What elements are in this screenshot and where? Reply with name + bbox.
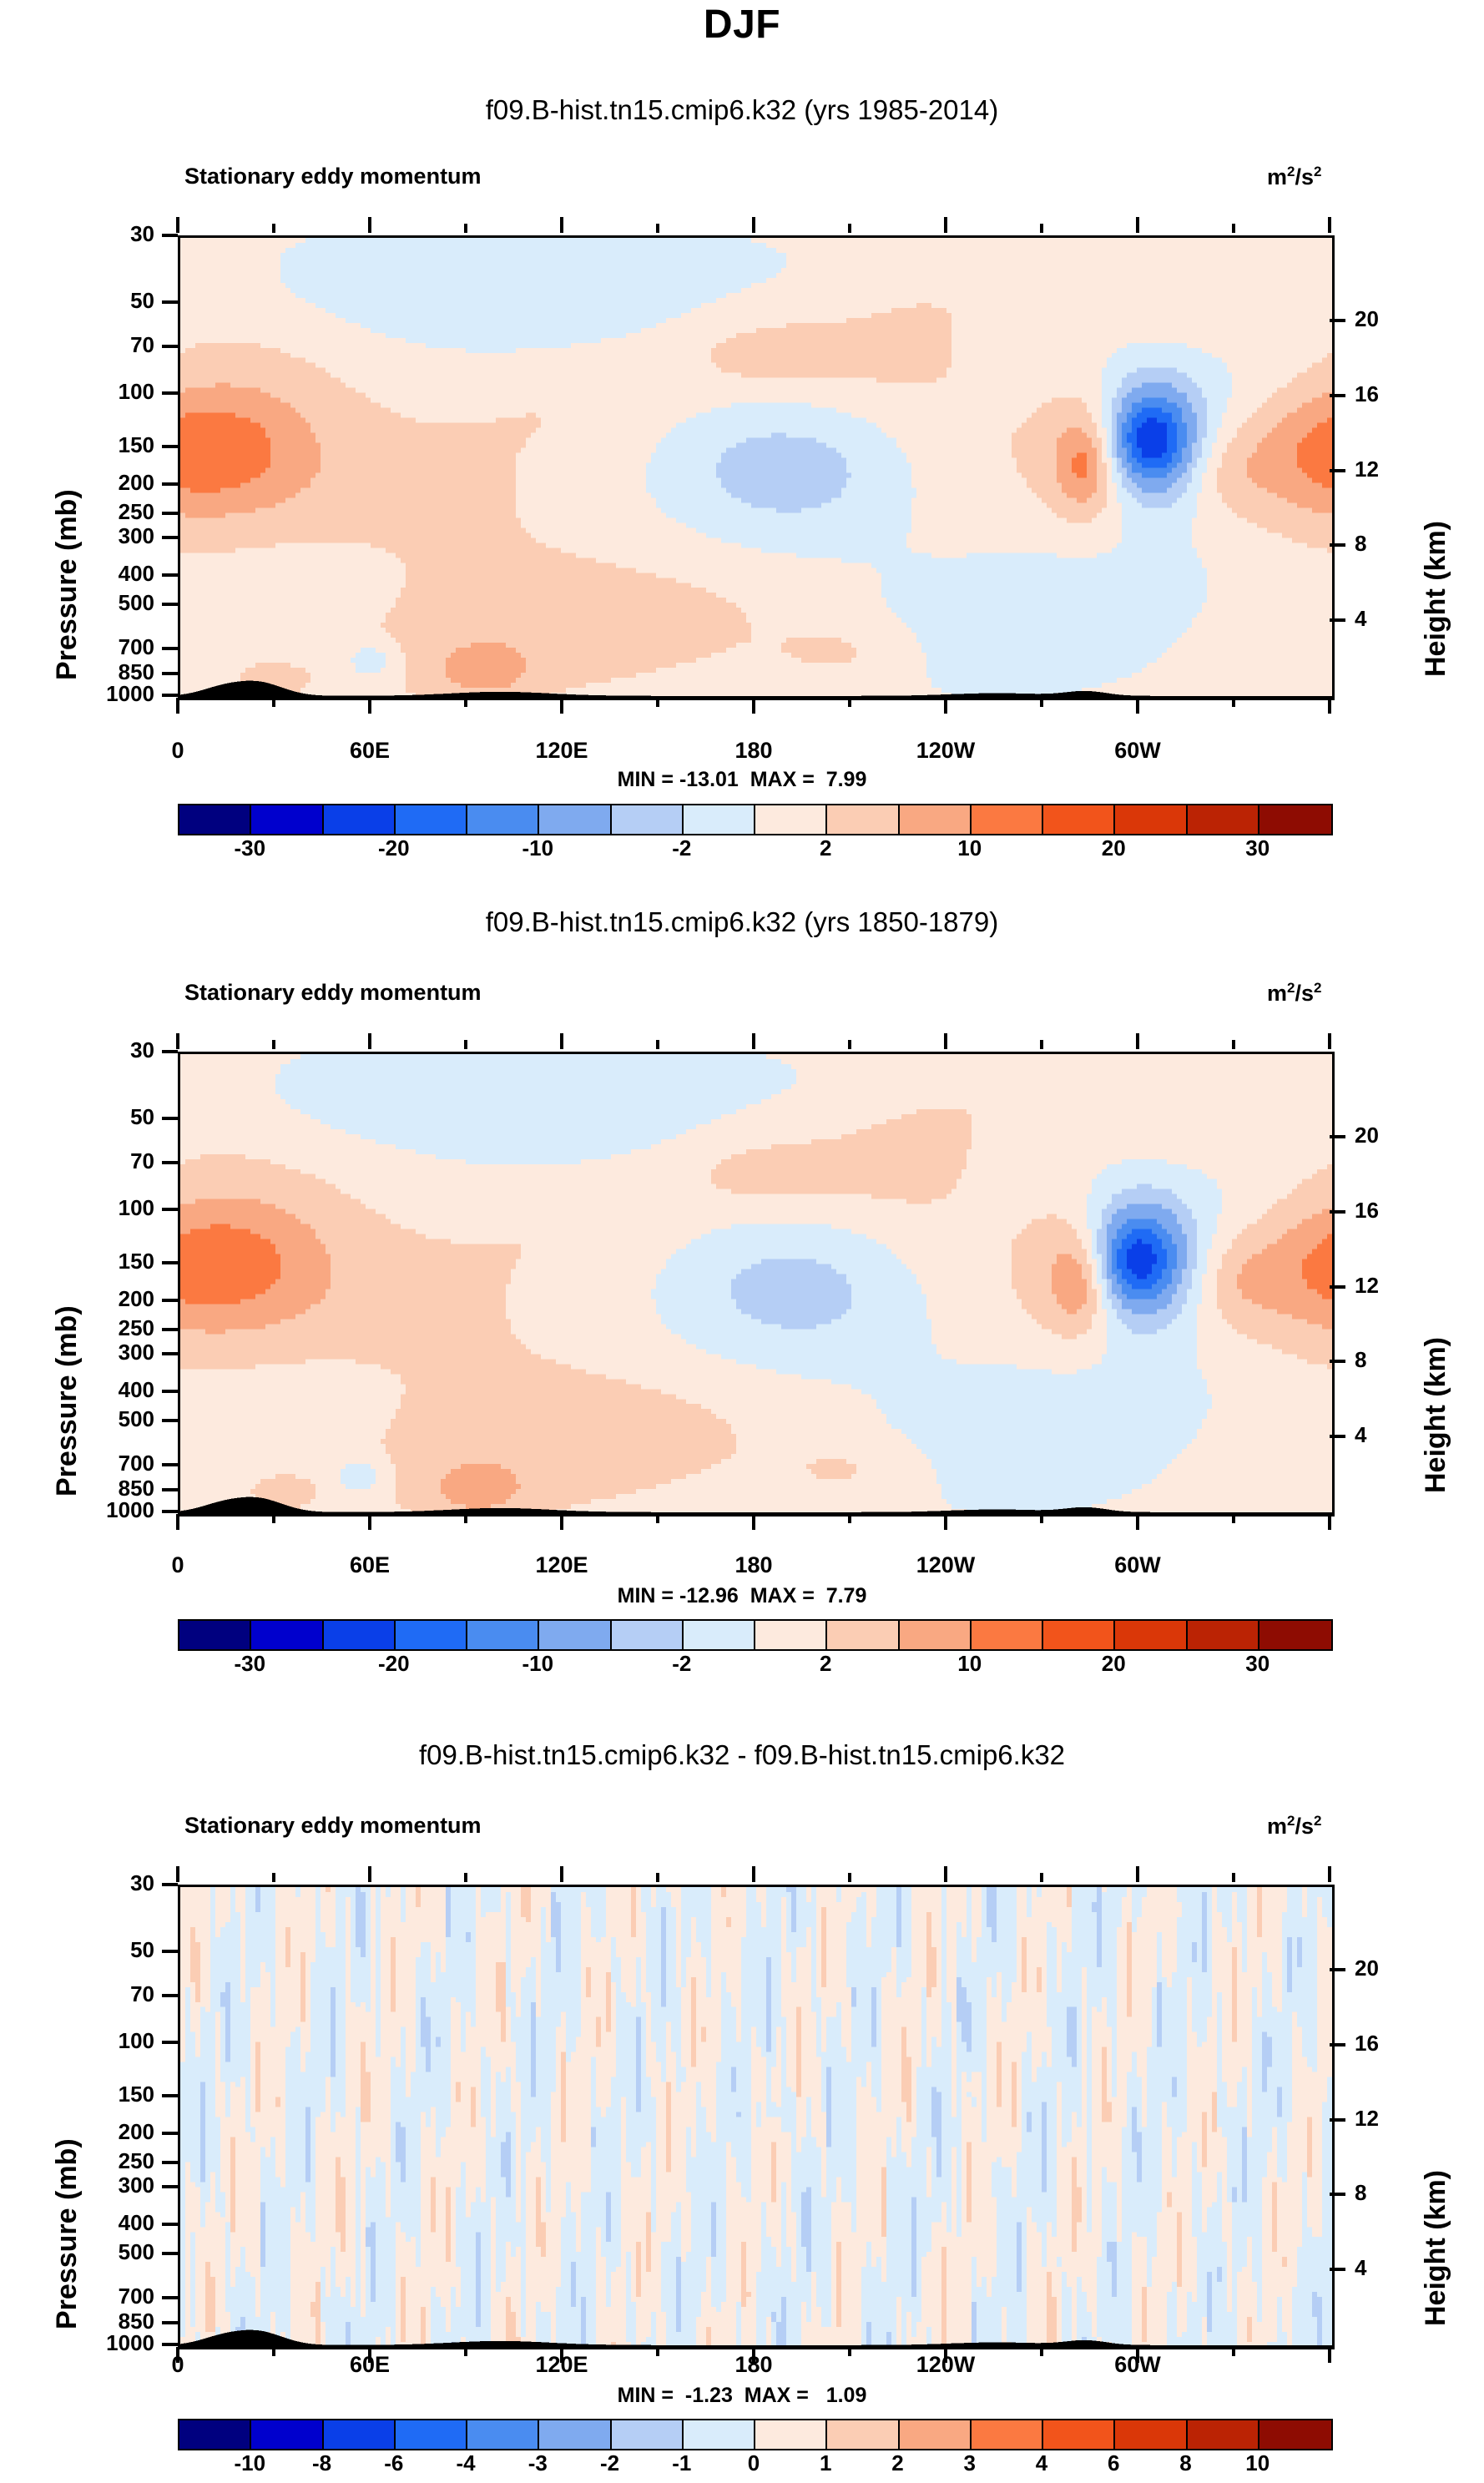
y-tick-label: 1000 xyxy=(53,681,154,707)
colorbar-tick-label: -20 xyxy=(344,835,444,861)
x-tick-top-minor xyxy=(848,224,851,233)
y-tick-major xyxy=(162,2161,178,2164)
x-tick-minor xyxy=(272,698,275,707)
y-tick-major xyxy=(162,1117,178,1120)
x-tick-minor xyxy=(656,698,659,707)
colorbar-cell[interactable] xyxy=(755,1621,827,1649)
x-tick-top-minor xyxy=(464,224,467,233)
x-tick-label: 60E xyxy=(295,1552,445,1578)
y-tick-major xyxy=(162,1510,178,1513)
y-tick-major xyxy=(162,1328,178,1331)
colorbar-cell[interactable] xyxy=(251,805,323,834)
colorbar-cell[interactable] xyxy=(179,805,251,834)
colorbar-cell[interactable] xyxy=(1043,805,1115,834)
x-tick-label: 60W xyxy=(1063,1552,1213,1578)
x-tick-label: 120W xyxy=(871,1552,1021,1578)
colorbar-cell[interactable] xyxy=(1115,2420,1187,2449)
x-tick-minor xyxy=(1040,2347,1043,2356)
x-tick-top-major xyxy=(560,1033,563,1049)
x-tick-label: 120W xyxy=(871,2352,1021,2378)
min-max-label: MIN = -12.96 MAX = 7.79 xyxy=(0,1584,1484,1608)
y2-tick-label: 12 xyxy=(1355,1273,1421,1299)
x-tick-top-minor xyxy=(656,224,659,233)
y-tick-major xyxy=(162,345,178,348)
x-tick-top-major xyxy=(368,1033,371,1049)
colorbar-cell[interactable] xyxy=(467,2420,539,2449)
x-tick-label: 120W xyxy=(871,738,1021,764)
y2-tick-label: 16 xyxy=(1355,381,1421,407)
x-tick-top-major xyxy=(752,1033,755,1049)
colorbar-cell[interactable] xyxy=(251,2420,323,2449)
y-tick-major xyxy=(162,445,178,448)
x-tick-minor xyxy=(1040,698,1043,707)
x-tick-top-minor xyxy=(464,1873,467,1882)
units-text: m2/s2 xyxy=(1267,1814,1321,1839)
colorbar-tick-label: 20 xyxy=(1063,1651,1163,1677)
x-tick-minor xyxy=(464,2347,467,2356)
y-axis-title: Pressure (mb) xyxy=(51,2138,83,2329)
y-tick-label: 70 xyxy=(53,1981,154,2007)
y-tick-major xyxy=(162,2321,178,2324)
units-text: m2/s2 xyxy=(1267,164,1321,189)
y-tick-label: 30 xyxy=(53,221,154,247)
colorbar-cell[interactable] xyxy=(900,2420,972,2449)
x-tick-minor xyxy=(464,698,467,707)
y2-tick-label: 4 xyxy=(1355,2255,1421,2281)
y-tick-major xyxy=(162,2223,178,2226)
y-tick-label: 150 xyxy=(53,432,154,458)
x-tick-top-minor xyxy=(1232,1873,1235,1882)
y-tick-major xyxy=(162,672,178,675)
y2-tick-major xyxy=(1330,1210,1345,1214)
colorbar-tick-label: -30 xyxy=(199,835,300,861)
colorbar-cell[interactable] xyxy=(972,1621,1043,1649)
contour-field xyxy=(180,1054,1332,1514)
x-tick-top-minor xyxy=(464,1040,467,1049)
y2-axis-title: Height (km) xyxy=(1420,2170,1452,2326)
y2-tick-label: 4 xyxy=(1355,1422,1421,1448)
x-tick-major xyxy=(176,698,179,714)
colorbar-cell[interactable] xyxy=(324,1621,396,1649)
x-tick-top-minor xyxy=(272,1040,275,1049)
x-tick-major xyxy=(1328,698,1331,714)
y-tick-major xyxy=(162,2132,178,2135)
x-tick-top-major xyxy=(560,217,563,233)
variable-label: Stationary eddy momentum xyxy=(184,164,482,189)
min-max-label: MIN = -13.01 MAX = 7.99 xyxy=(0,768,1484,792)
colorbar-cell[interactable] xyxy=(972,2420,1043,2449)
x-tick-minor xyxy=(1232,2347,1235,2356)
colorbar-cell[interactable] xyxy=(539,1621,611,1649)
colorbar-cell[interactable] xyxy=(755,805,827,834)
y-tick-major xyxy=(162,2094,178,2097)
x-tick-label: 180 xyxy=(679,1552,829,1578)
y-tick-major xyxy=(162,1261,178,1264)
units-text: m2/s2 xyxy=(1267,981,1321,1006)
x-tick-minor xyxy=(848,2347,851,2356)
x-tick-major xyxy=(944,1514,947,1530)
y2-tick-label: 16 xyxy=(1355,1198,1421,1224)
x-tick-minor xyxy=(1232,698,1235,707)
y-axis-title: Pressure (mb) xyxy=(51,1305,83,1496)
y2-tick-major xyxy=(1330,1435,1345,1438)
colorbar-cell[interactable] xyxy=(612,2420,684,2449)
colorbar-cell[interactable] xyxy=(1259,1621,1331,1649)
y2-tick-label: 8 xyxy=(1355,1347,1421,1373)
units-label: m2/s2 xyxy=(1267,164,1321,190)
x-tick-top-major xyxy=(176,1866,179,1882)
y2-tick-major xyxy=(1330,1360,1345,1363)
colorbar-cell[interactable] xyxy=(1115,805,1187,834)
y2-tick-major xyxy=(1330,1968,1345,1971)
x-tick-top-minor xyxy=(848,1873,851,1882)
colorbar-cell[interactable] xyxy=(539,805,611,834)
panel-title: f09.B-hist.tn15.cmip6.k32 - f09.B-hist.t… xyxy=(0,1739,1484,1771)
y-tick-major xyxy=(162,1950,178,1953)
figure-main-title: DJF xyxy=(0,2,1484,48)
y2-axis-title: Height (km) xyxy=(1420,521,1452,677)
colorbar-cell[interactable] xyxy=(1188,2420,1259,2449)
x-tick-major xyxy=(1136,698,1139,714)
x-tick-top-major xyxy=(1136,1033,1139,1049)
y-tick-major xyxy=(162,391,178,395)
y-tick-label: 50 xyxy=(53,1104,154,1130)
x-tick-top-major xyxy=(1136,217,1139,233)
colorbar-cell[interactable] xyxy=(1259,2420,1331,2449)
y-tick-major xyxy=(162,1419,178,1422)
colorbar-cell[interactable] xyxy=(1188,1621,1259,1649)
y-tick-major xyxy=(162,1050,178,1053)
colorbar-tick-label: -2 xyxy=(632,1651,732,1677)
colorbar-cell[interactable] xyxy=(684,2420,755,2449)
y-tick-major xyxy=(162,603,178,606)
x-tick-top-major xyxy=(176,1033,179,1049)
y-tick-major xyxy=(162,300,178,304)
x-tick-top-minor xyxy=(1040,1040,1043,1049)
x-tick-major xyxy=(560,698,563,714)
x-tick-minor xyxy=(656,1514,659,1523)
y-tick-major xyxy=(162,2343,178,2346)
plot-area-2 xyxy=(178,1052,1335,1517)
y-tick-major xyxy=(162,1299,178,1302)
x-tick-label: 0 xyxy=(103,2352,253,2378)
y-tick-label: 100 xyxy=(53,379,154,405)
colorbar-cell[interactable] xyxy=(396,2420,467,2449)
y-tick-major xyxy=(162,1390,178,1393)
y-tick-label: 150 xyxy=(53,1249,154,1274)
y-tick-major xyxy=(162,1488,178,1491)
y-tick-label: 100 xyxy=(53,2028,154,2054)
y2-tick-label: 20 xyxy=(1355,1956,1421,1981)
x-tick-top-major xyxy=(368,217,371,233)
y2-tick-label: 8 xyxy=(1355,2180,1421,2206)
plot-area-3 xyxy=(178,1885,1335,2349)
units-label: m2/s2 xyxy=(1267,1813,1321,1840)
colorbar-cell[interactable] xyxy=(396,805,467,834)
x-tick-top-minor xyxy=(1040,1873,1043,1882)
colorbar-cell[interactable] xyxy=(1115,1621,1187,1649)
colorbar-cell[interactable] xyxy=(755,2420,827,2449)
colorbar-tick-label: 20 xyxy=(1063,835,1163,861)
y-axis-title: Pressure (mb) xyxy=(51,489,83,680)
colorbar-cell[interactable] xyxy=(612,805,684,834)
x-tick-top-major xyxy=(752,1866,755,1882)
x-tick-top-minor xyxy=(656,1873,659,1882)
y2-tick-major xyxy=(1330,469,1345,472)
x-tick-label: 0 xyxy=(103,738,253,764)
colorbar-cell[interactable] xyxy=(1259,805,1331,834)
y-tick-major xyxy=(162,2041,178,2044)
y2-tick-major xyxy=(1330,2193,1345,2196)
y-tick-label: 50 xyxy=(53,1937,154,1963)
colorbar-cell[interactable] xyxy=(324,805,396,834)
x-tick-minor xyxy=(464,1514,467,1523)
x-tick-major xyxy=(1328,2347,1331,2363)
variable-label: Stationary eddy momentum xyxy=(184,980,482,1006)
variable-label: Stationary eddy momentum xyxy=(184,1813,482,1839)
colorbar-tick-label: -30 xyxy=(199,1651,300,1677)
y-tick-major xyxy=(162,573,178,577)
colorbar xyxy=(178,2419,1333,2450)
y-tick-label: 70 xyxy=(53,332,154,358)
colorbar-cell[interactable] xyxy=(612,1621,684,1649)
x-tick-label: 60E xyxy=(295,2352,445,2378)
y2-tick-label: 12 xyxy=(1355,457,1421,482)
y2-tick-label: 16 xyxy=(1355,2031,1421,2057)
colorbar-tick-label: 10 xyxy=(920,835,1020,861)
y-tick-major xyxy=(162,482,178,486)
y-tick-major xyxy=(162,1161,178,1164)
x-tick-minor xyxy=(272,2347,275,2356)
x-tick-major xyxy=(368,1514,371,1530)
colorbar-cell[interactable] xyxy=(972,805,1043,834)
x-tick-top-major xyxy=(368,1866,371,1882)
colorbar-cell[interactable] xyxy=(900,805,972,834)
x-tick-top-major xyxy=(176,217,179,233)
y2-tick-label: 4 xyxy=(1355,606,1421,632)
x-tick-top-minor xyxy=(848,1040,851,1049)
y2-axis-title: Height (km) xyxy=(1420,1337,1452,1493)
contour-field xyxy=(180,1887,1332,2347)
x-tick-major xyxy=(560,1514,563,1530)
x-tick-top-minor xyxy=(1232,224,1235,233)
colorbar-tick-label: -20 xyxy=(344,1651,444,1677)
colorbar-cell[interactable] xyxy=(684,805,755,834)
y-tick-label: 50 xyxy=(53,288,154,314)
y2-tick-major xyxy=(1330,618,1345,622)
colorbar-tick-label: 10 xyxy=(920,1651,1020,1677)
y-tick-label: 100 xyxy=(53,1195,154,1221)
colorbar-cell[interactable] xyxy=(179,2420,251,2449)
x-tick-top-major xyxy=(1328,1866,1331,1882)
x-tick-minor xyxy=(272,1514,275,1523)
y2-tick-label: 20 xyxy=(1355,1123,1421,1148)
colorbar-cell[interactable] xyxy=(827,2420,899,2449)
x-tick-minor xyxy=(848,1514,851,1523)
x-tick-top-major xyxy=(944,1033,947,1049)
y2-tick-label: 20 xyxy=(1355,306,1421,332)
colorbar-tick-label: -10 xyxy=(487,1651,588,1677)
y-tick-label: 30 xyxy=(53,1870,154,1896)
x-tick-label: 0 xyxy=(103,1552,253,1578)
y2-tick-label: 8 xyxy=(1355,531,1421,557)
y-tick-major xyxy=(162,512,178,515)
colorbar-cell[interactable] xyxy=(1043,2420,1115,2449)
y-tick-major xyxy=(162,2296,178,2299)
plot-area-1 xyxy=(178,235,1335,700)
x-tick-major xyxy=(1328,1514,1331,1530)
y-tick-major xyxy=(162,1463,178,1466)
min-max-label: MIN = -1.23 MAX = 1.09 xyxy=(0,2384,1484,2408)
colorbar-cell[interactable] xyxy=(467,1621,539,1649)
colorbar-tick-label: -2 xyxy=(632,835,732,861)
x-tick-label: 120E xyxy=(487,1552,637,1578)
y-tick-major xyxy=(162,1208,178,1211)
y-tick-major xyxy=(162,1352,178,1355)
y-tick-label: 70 xyxy=(53,1148,154,1174)
x-tick-top-major xyxy=(1328,1033,1331,1049)
colorbar-cell[interactable] xyxy=(1043,1621,1115,1649)
x-tick-label: 180 xyxy=(679,738,829,764)
x-tick-label: 120E xyxy=(487,2352,637,2378)
colorbar-cell[interactable] xyxy=(324,2420,396,2449)
x-tick-major xyxy=(944,698,947,714)
colorbar-cell[interactable] xyxy=(396,1621,467,1649)
colorbar-cell[interactable] xyxy=(900,1621,972,1649)
y-tick-major xyxy=(162,1883,178,1886)
x-tick-label: 180 xyxy=(679,2352,829,2378)
panel-title: f09.B-hist.tn15.cmip6.k32 (yrs 1850-1879… xyxy=(0,906,1484,938)
y2-tick-major xyxy=(1330,543,1345,547)
x-tick-label: 120E xyxy=(487,738,637,764)
y-tick-label: 150 xyxy=(53,2082,154,2107)
x-tick-top-minor xyxy=(272,1873,275,1882)
colorbar-cell[interactable] xyxy=(827,805,899,834)
x-tick-top-major xyxy=(944,1866,947,1882)
x-tick-top-major xyxy=(1136,1866,1139,1882)
colorbar-tick-label: 10 xyxy=(1208,2450,1308,2476)
x-tick-top-minor xyxy=(272,224,275,233)
colorbar-cell[interactable] xyxy=(1188,805,1259,834)
colorbar-cell[interactable] xyxy=(684,1621,755,1649)
colorbar-tick-label: 2 xyxy=(775,1651,876,1677)
x-tick-top-minor xyxy=(656,1040,659,1049)
x-tick-label: 60W xyxy=(1063,738,1213,764)
units-label: m2/s2 xyxy=(1267,980,1321,1007)
y2-tick-major xyxy=(1330,2268,1345,2271)
colorbar-cell[interactable] xyxy=(827,1621,899,1649)
x-tick-top-major xyxy=(944,217,947,233)
colorbar-tick-label: 30 xyxy=(1208,1651,1308,1677)
colorbar xyxy=(178,1619,1333,1651)
colorbar-tick-label: -10 xyxy=(487,835,588,861)
x-tick-minor xyxy=(1040,1514,1043,1523)
y2-tick-label: 12 xyxy=(1355,2106,1421,2132)
colorbar-tick-label: 30 xyxy=(1208,835,1308,861)
x-tick-top-major xyxy=(560,1866,563,1882)
contour-field xyxy=(180,238,1332,698)
x-tick-major xyxy=(176,1514,179,1530)
x-tick-label: 60W xyxy=(1063,2352,1213,2378)
x-tick-major xyxy=(752,1514,755,1530)
x-tick-top-major xyxy=(1328,217,1331,233)
y-tick-major xyxy=(162,647,178,650)
y2-tick-major xyxy=(1330,394,1345,397)
y2-tick-major xyxy=(1330,1285,1345,1289)
y-tick-label: 30 xyxy=(53,1037,154,1063)
y2-tick-major xyxy=(1330,2043,1345,2046)
y-tick-major xyxy=(162,2252,178,2255)
x-tick-minor xyxy=(848,698,851,707)
panel-title: f09.B-hist.tn15.cmip6.k32 (yrs 1985-2014… xyxy=(0,94,1484,126)
x-tick-top-minor xyxy=(1040,224,1043,233)
x-tick-major xyxy=(1136,1514,1139,1530)
x-tick-top-minor xyxy=(1232,1040,1235,1049)
colorbar-cell[interactable] xyxy=(179,1621,251,1649)
x-tick-minor xyxy=(656,2347,659,2356)
colorbar-cell[interactable] xyxy=(251,1621,323,1649)
x-tick-label: 60E xyxy=(295,738,445,764)
y-tick-label: 1000 xyxy=(53,1497,154,1523)
x-tick-major xyxy=(368,698,371,714)
x-tick-major xyxy=(752,698,755,714)
y-tick-major xyxy=(162,2185,178,2188)
y2-tick-major xyxy=(1330,1135,1345,1138)
colorbar-cell[interactable] xyxy=(539,2420,611,2449)
y-tick-major xyxy=(162,1994,178,1997)
y2-tick-major xyxy=(1330,2118,1345,2122)
x-tick-minor xyxy=(1232,1514,1235,1523)
y-tick-major xyxy=(162,536,178,539)
y-tick-major xyxy=(162,694,178,697)
colorbar-tick-label: 2 xyxy=(775,835,876,861)
colorbar xyxy=(178,804,1333,835)
y-tick-major xyxy=(162,234,178,237)
y2-tick-major xyxy=(1330,319,1345,322)
colorbar-cell[interactable] xyxy=(467,805,539,834)
x-tick-top-major xyxy=(752,217,755,233)
